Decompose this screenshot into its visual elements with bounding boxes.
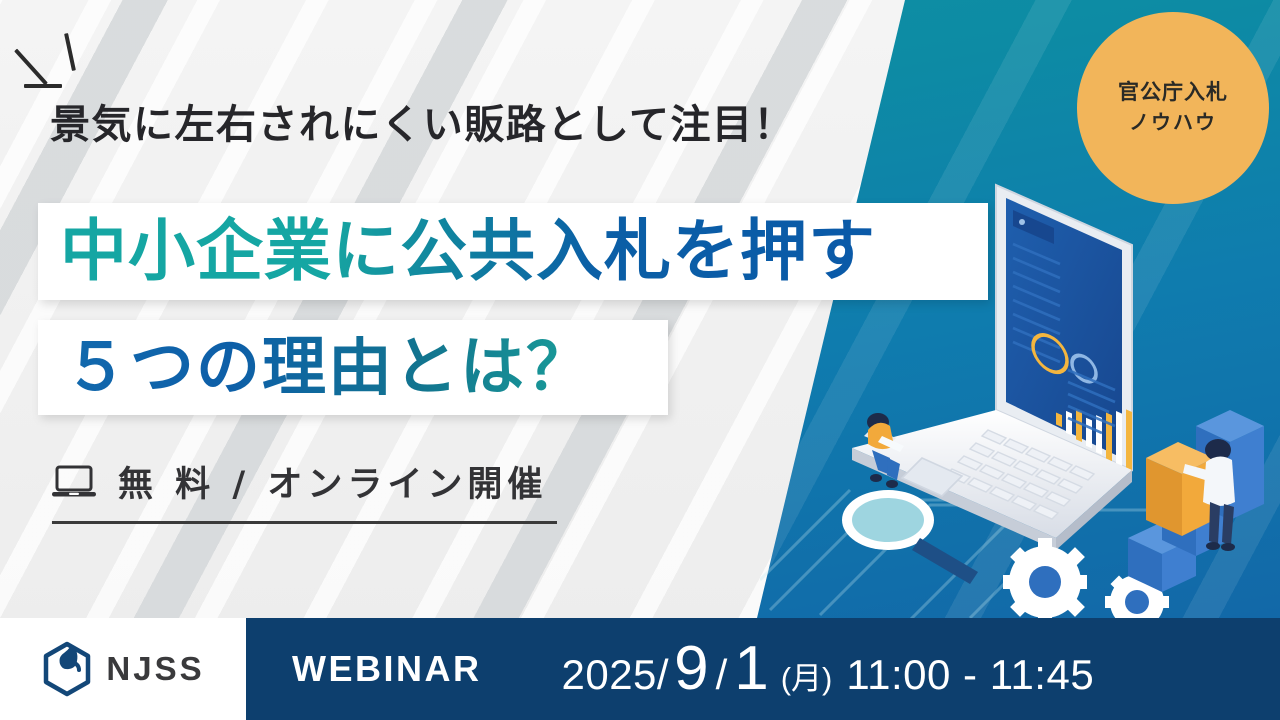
kicker-text: 景気に左右されにくい販路として注目！ (50, 92, 795, 150)
logo-wordmark: NJSS (106, 650, 204, 688)
badge-line-2: ノウハウ (1129, 109, 1217, 138)
accent-dash-icon-1 (24, 84, 62, 88)
headline-line1-part2: に公共入札を押す (332, 212, 876, 290)
headline-line1-part1: 中小企業 (60, 212, 332, 290)
laptop-icon (52, 465, 96, 499)
orange-box (1146, 442, 1214, 536)
webinar-banner: 官公庁入札 ノウハウ 景気に左右されにくい販路として注目！ 中小企業に公共入札を… (0, 0, 1280, 720)
footer-bar: NJSS WEBINAR 2025/ 9 / 1 (月) 11:00 - 11:… (0, 618, 1280, 720)
event-time: 11:00 - 11:45 (846, 651, 1094, 699)
subline-text: 無 料 / オンライン開催 (118, 456, 547, 507)
date-separator: / (716, 651, 728, 699)
headline-band-2: ５つの理由とは？ (38, 320, 668, 415)
badge-line-1: 官公庁入札 (1118, 78, 1228, 108)
headline-line2: ５つの理由とは？ (64, 336, 592, 400)
event-datetime: 2025/ 9 / 1 (月) 11:00 - 11:45 (561, 638, 1094, 700)
date-day-of-week: (月) (781, 653, 833, 698)
isometric-laptop-illustration (810, 140, 1280, 618)
njss-hexagon-logo-icon (41, 640, 95, 698)
webinar-label: WEBINAR (292, 648, 481, 690)
subline-row: 無 料 / オンライン開催 (52, 456, 557, 524)
date-month: 9 (674, 638, 708, 700)
gear-icon-large (1003, 538, 1087, 618)
logo-box[interactable]: NJSS (0, 618, 246, 720)
date-year: 2025/ (561, 651, 669, 699)
date-day: 1 (734, 638, 768, 700)
